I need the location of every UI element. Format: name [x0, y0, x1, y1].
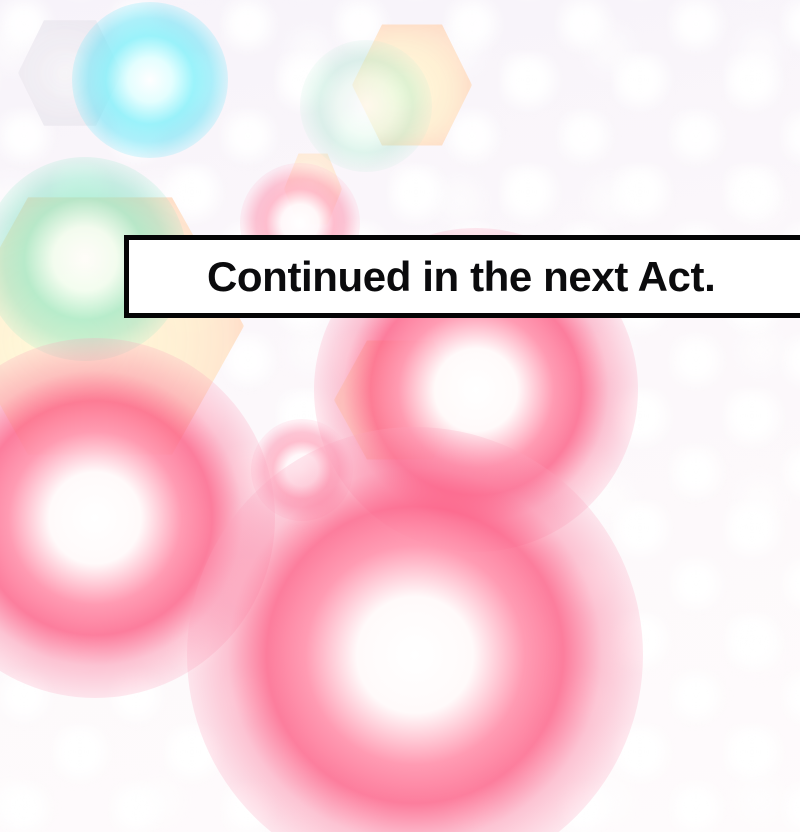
dialogue-text: Continued in the next Act. — [129, 256, 715, 298]
dialogue-text-box[interactable]: Continued in the next Act. — [124, 235, 800, 318]
visual-novel-scene: Continued in the next Act. — [0, 0, 800, 832]
